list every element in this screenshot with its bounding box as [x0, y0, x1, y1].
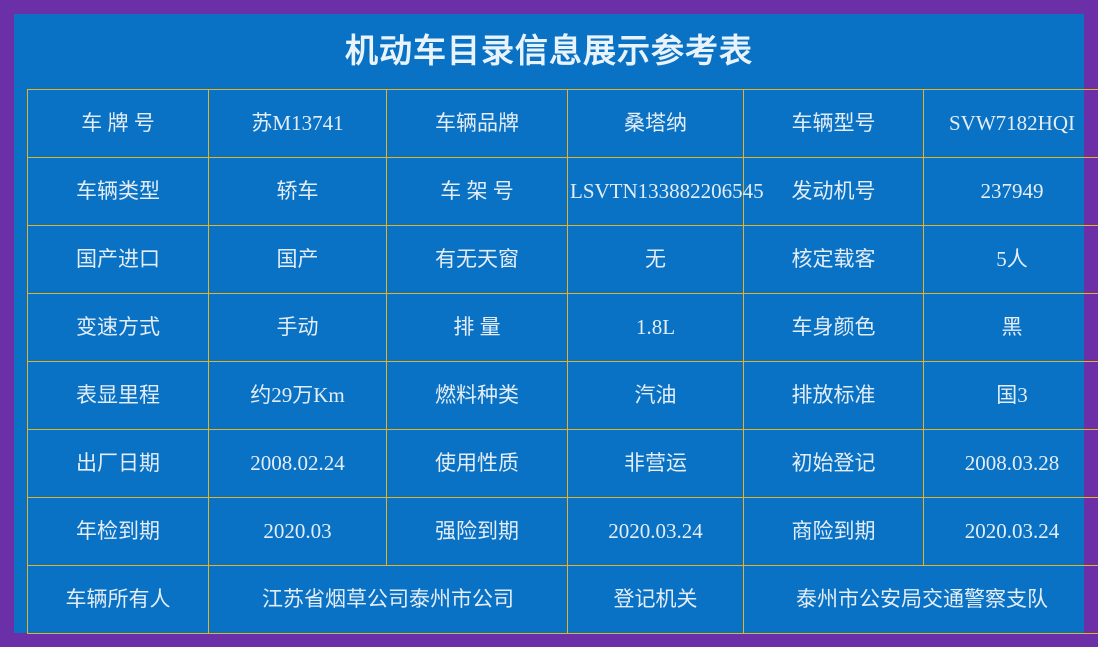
- cell-label-transmission: 变速方式: [28, 294, 209, 362]
- cell-label-fuel-type: 燃料种类: [387, 362, 568, 430]
- table-row: 车辆所有人 江苏省烟草公司泰州市公司 登记机关 泰州市公安局交通警察支队: [28, 566, 1098, 634]
- cell-value-seating-capacity: 5人: [924, 226, 1098, 294]
- cell-value-manufacture-date: 2008.02.24: [209, 430, 387, 498]
- table-row: 变速方式 手动 排 量 1.8L 车身颜色 黑: [28, 294, 1098, 362]
- cell-label-registration-authority: 登记机关: [568, 566, 744, 634]
- info-panel: 机动车目录信息展示参考表 车 牌 号 苏M13741 车辆品牌 桑塔纳 车辆型号…: [14, 14, 1084, 633]
- cell-label-engine-number: 发动机号: [744, 158, 924, 226]
- cell-label-usage-nature: 使用性质: [387, 430, 568, 498]
- cell-label-vehicle-model: 车辆型号: [744, 90, 924, 158]
- page-title: 机动车目录信息展示参考表: [14, 30, 1084, 74]
- cell-value-registration-authority: 泰州市公安局交通警察支队: [744, 566, 1098, 634]
- cell-value-body-color: 黑: [924, 294, 1098, 362]
- table-row: 车 牌 号 苏M13741 车辆品牌 桑塔纳 车辆型号 SVW7182HQI: [28, 90, 1098, 158]
- cell-value-compulsory-insurance-due: 2020.03.24: [568, 498, 744, 566]
- page-root: 机动车目录信息展示参考表 车 牌 号 苏M13741 车辆品牌 桑塔纳 车辆型号…: [0, 0, 1098, 647]
- cell-label-body-color: 车身颜色: [744, 294, 924, 362]
- cell-label-odometer: 表显里程: [28, 362, 209, 430]
- cell-value-initial-registration: 2008.03.28: [924, 430, 1098, 498]
- cell-label-origin: 国产进口: [28, 226, 209, 294]
- vehicle-info-table: 车 牌 号 苏M13741 车辆品牌 桑塔纳 车辆型号 SVW7182HQI 车…: [27, 89, 1098, 634]
- cell-label-annual-inspection-due: 年检到期: [28, 498, 209, 566]
- cell-value-commercial-insurance-due: 2020.03.24: [924, 498, 1098, 566]
- cell-label-compulsory-insurance-due: 强险到期: [387, 498, 568, 566]
- table-body: 车 牌 号 苏M13741 车辆品牌 桑塔纳 车辆型号 SVW7182HQI 车…: [28, 90, 1098, 634]
- cell-value-odometer: 约29万Km: [209, 362, 387, 430]
- cell-label-displacement: 排 量: [387, 294, 568, 362]
- table-row: 车辆类型 轿车 车 架 号 LSVTN133882206545 发动机号 237…: [28, 158, 1098, 226]
- cell-label-vehicle-owner: 车辆所有人: [28, 566, 209, 634]
- cell-value-vin: LSVTN133882206545: [568, 158, 744, 226]
- cell-value-vehicle-brand: 桑塔纳: [568, 90, 744, 158]
- cell-value-transmission: 手动: [209, 294, 387, 362]
- cell-label-vehicle-type: 车辆类型: [28, 158, 209, 226]
- table-row: 国产进口 国产 有无天窗 无 核定载客 5人: [28, 226, 1098, 294]
- cell-value-fuel-type: 汽油: [568, 362, 744, 430]
- cell-value-plate-number: 苏M13741: [209, 90, 387, 158]
- cell-value-vehicle-type: 轿车: [209, 158, 387, 226]
- cell-label-plate-number: 车 牌 号: [28, 90, 209, 158]
- table-row: 出厂日期 2008.02.24 使用性质 非营运 初始登记 2008.03.28: [28, 430, 1098, 498]
- table-row: 年检到期 2020.03 强险到期 2020.03.24 商险到期 2020.0…: [28, 498, 1098, 566]
- cell-label-vehicle-brand: 车辆品牌: [387, 90, 568, 158]
- cell-label-manufacture-date: 出厂日期: [28, 430, 209, 498]
- cell-label-commercial-insurance-due: 商险到期: [744, 498, 924, 566]
- cell-value-emission-standard: 国3: [924, 362, 1098, 430]
- cell-value-sunroof: 无: [568, 226, 744, 294]
- cell-value-vehicle-model: SVW7182HQI: [924, 90, 1098, 158]
- cell-label-sunroof: 有无天窗: [387, 226, 568, 294]
- cell-label-initial-registration: 初始登记: [744, 430, 924, 498]
- cell-value-engine-number: 237949: [924, 158, 1098, 226]
- cell-label-seating-capacity: 核定载客: [744, 226, 924, 294]
- table-row: 表显里程 约29万Km 燃料种类 汽油 排放标准 国3: [28, 362, 1098, 430]
- cell-value-vehicle-owner: 江苏省烟草公司泰州市公司: [209, 566, 568, 634]
- cell-label-vin: 车 架 号: [387, 158, 568, 226]
- cell-label-emission-standard: 排放标准: [744, 362, 924, 430]
- cell-value-usage-nature: 非营运: [568, 430, 744, 498]
- cell-value-annual-inspection-due: 2020.03: [209, 498, 387, 566]
- cell-value-displacement: 1.8L: [568, 294, 744, 362]
- cell-value-origin: 国产: [209, 226, 387, 294]
